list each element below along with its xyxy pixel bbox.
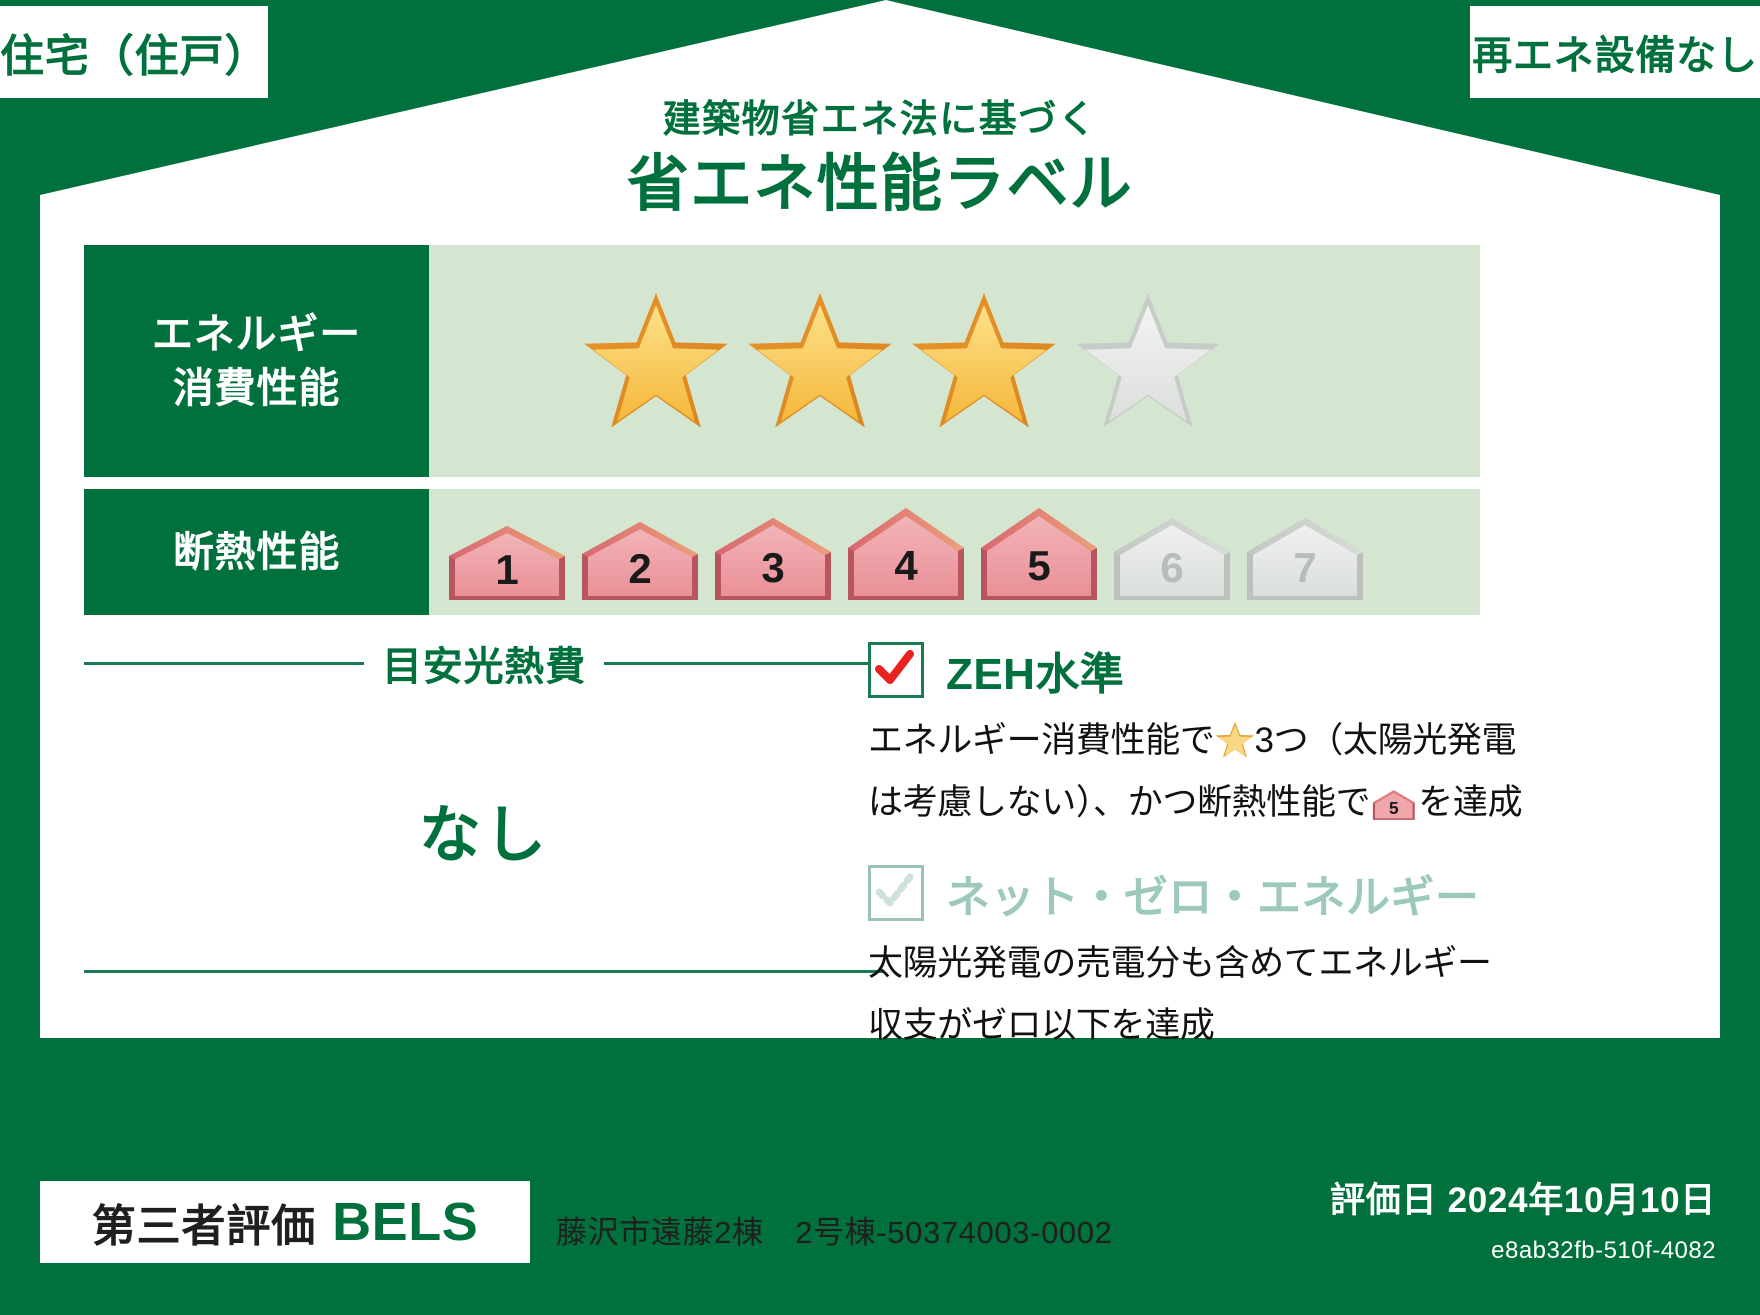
insulation-level-scale: 1 2 3 4 — [441, 500, 1372, 604]
insulation-level-5-house-icon: 5 — [973, 500, 1106, 604]
cost-header: 目安光熱費 — [84, 634, 884, 692]
zeh-standard-heading: ZEH水準 — [946, 638, 1124, 702]
zeh-desc2-part-a: は考慮しない）、かつ断熱性能で — [868, 783, 1370, 822]
svg-text:2: 2 — [628, 545, 651, 592]
title-subtitle: 建築物省エネ法に基づく — [0, 100, 1760, 142]
svg-text:1: 1 — [495, 546, 518, 593]
zeh-description-line1: エネルギー消費性能で3つ（太陽光発電 — [868, 716, 1488, 766]
zeh-criteria-block: ZEH水準 エネルギー消費性能で3つ（太陽光発電 は考慮しない）、かつ断熱性能で… — [868, 638, 1488, 1051]
bels-energy-label: 住宅（住戸） 再エネ設備なし 建築物省エネ法に基づく 省エネ性能ラベル エネルギ… — [0, 0, 1760, 1315]
net-zero-checkbox-unchecked[interactable] — [868, 865, 924, 921]
svg-text:5: 5 — [1027, 542, 1050, 589]
star-rating — [581, 290, 1223, 432]
energy-performance-label: エネルギー 消費性能 — [84, 245, 429, 477]
net-zero-row: ネット・ゼロ・エネルギー — [868, 861, 1488, 925]
zeh-checkbox-checked[interactable] — [868, 642, 924, 698]
title-block: 建築物省エネ法に基づく 省エネ性能ラベル — [0, 100, 1760, 223]
zeh-desc1-part-b: 3つ（太陽光発電 — [1255, 721, 1517, 760]
svg-text:6: 6 — [1160, 544, 1183, 591]
property-address: 藤沢市遠藤2棟 2号棟-50374003-0002 — [556, 1207, 1113, 1252]
certificate-id: e8ab32fb-510f-4082 — [1491, 1237, 1716, 1265]
svg-text:4: 4 — [894, 542, 918, 589]
check-icon — [869, 643, 919, 693]
energy-label-line1: エネルギー — [152, 307, 361, 361]
inline-insulation-badge-icon: 5 — [1370, 784, 1418, 824]
cost-rule-bottom — [84, 970, 884, 973]
cost-value: なし — [84, 784, 884, 874]
insulation-level-4-house-icon: 4 — [840, 500, 973, 604]
insulation-level-2-house-icon: 2 — [574, 512, 707, 604]
building-type-badge: 住宅（住戸） — [0, 6, 268, 98]
star-filled-icon — [581, 290, 731, 432]
bels-certification-badge: 第三者評価 BELS — [40, 1181, 530, 1263]
footer: 第三者評価 BELS 藤沢市遠藤2棟 2号棟-50374003-0002 評価日… — [0, 1035, 1760, 1315]
energy-performance-row: エネルギー 消費性能 — [84, 245, 1480, 477]
check-icon-faded — [869, 866, 919, 916]
bels-japanese-label: 第三者評価 — [92, 1190, 316, 1254]
net-zero-heading: ネット・ゼロ・エネルギー — [946, 861, 1479, 925]
star-empty-icon — [1073, 290, 1223, 432]
bels-logo-text: BELS — [332, 1191, 478, 1253]
energy-label-line2: 消費性能 — [173, 361, 340, 415]
title-main: 省エネ性能ラベル — [0, 146, 1760, 224]
renewable-equipment-badge: 再エネ設備なし — [1470, 6, 1760, 98]
zeh-desc1-part-a: エネルギー消費性能で — [868, 721, 1215, 760]
svg-text:5: 5 — [1389, 798, 1399, 818]
estimated-utility-cost-block: 目安光熱費 なし — [84, 634, 884, 973]
insulation-performance-label: 断熱性能 — [84, 489, 429, 615]
insulation-level-1-house-icon: 1 — [441, 516, 574, 604]
cost-rule-right — [604, 662, 884, 665]
insulation-label-text: 断熱性能 — [173, 525, 340, 579]
zeh-description-line2: は考慮しない）、かつ断熱性能で5を達成 — [868, 778, 1488, 828]
svg-text:7: 7 — [1293, 544, 1316, 591]
cost-rule-left — [84, 662, 364, 665]
net-zero-description-line1: 太陽光発電の売電分も含めてエネルギー — [868, 939, 1488, 989]
insulation-performance-row: 断熱性能 — [84, 489, 1480, 615]
energy-performance-panel — [429, 245, 1480, 477]
evaluation-date: 評価日 2024年10月10日 — [1330, 1172, 1716, 1223]
insulation-level-3-house-icon: 3 — [707, 508, 840, 604]
zeh-standard-row: ZEH水準 — [868, 638, 1488, 702]
cost-title: 目安光熱費 — [364, 634, 604, 692]
net-zero-block: ネット・ゼロ・エネルギー 太陽光発電の売電分も含めてエネルギー 収支がゼロ以下を… — [868, 861, 1488, 1050]
svg-text:3: 3 — [761, 544, 784, 591]
star-filled-icon — [909, 290, 1059, 432]
insulation-level-6-house-icon: 6 — [1106, 508, 1239, 604]
insulation-performance-panel: 1 2 3 4 — [429, 489, 1480, 615]
zeh-desc2-part-b: を達成 — [1418, 783, 1522, 822]
star-filled-icon — [745, 290, 895, 432]
insulation-level-7-house-icon: 7 — [1239, 508, 1372, 604]
inline-star-icon — [1215, 721, 1255, 759]
